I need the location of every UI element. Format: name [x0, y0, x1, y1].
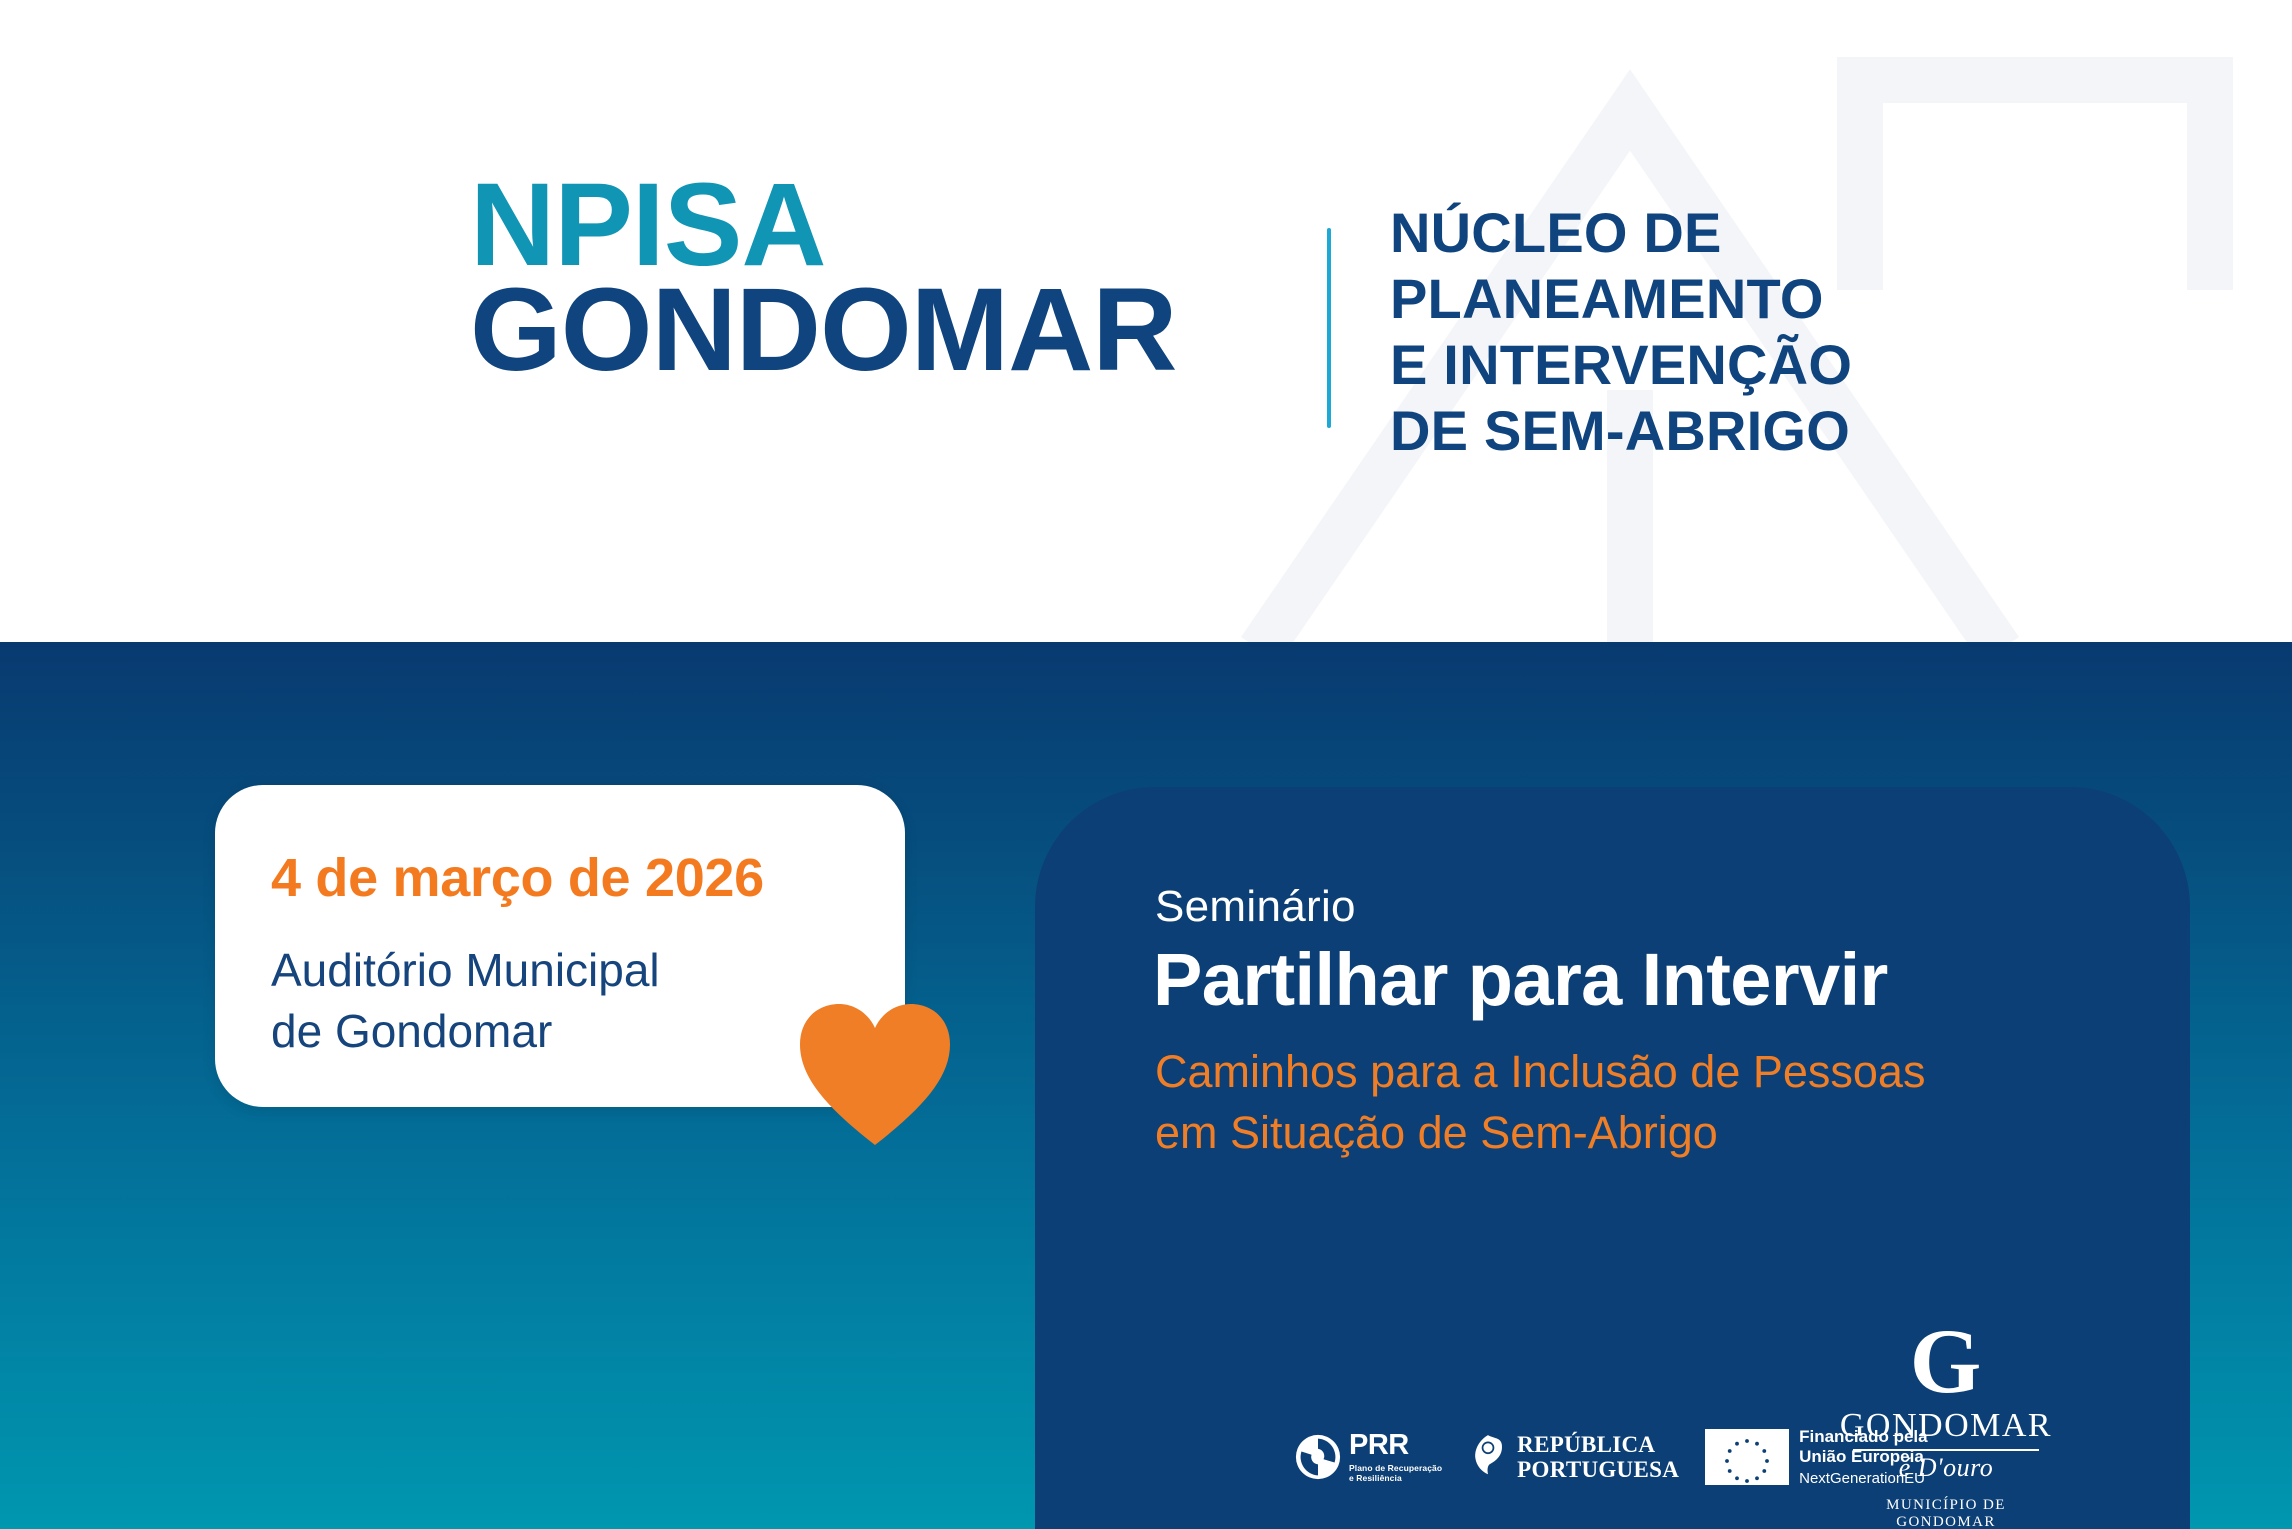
- gondomar-logo-tagline: é D'ouro: [1836, 1453, 2056, 1483]
- heart-icon: [800, 1002, 950, 1147]
- seminar-subtitle: Caminhos para a Inclusão de Pessoas em S…: [1155, 1042, 1925, 1164]
- prr-text-block: PRR Plano de Recuperação e Resiliência: [1349, 1431, 1442, 1484]
- gondomar-logo-rule: [1853, 1449, 2039, 1451]
- republica-portuguesa-shield-icon: [1468, 1434, 1508, 1480]
- gondomar-municipality-logo: G GONDOMAR é D'ouro MUNICÍPIO DE GONDOMA…: [1836, 1318, 2056, 1529]
- header-description-line-4: DE SEM-ABRIGO: [1390, 398, 1852, 464]
- prr-subtitle-line-1: Plano de Recuperação: [1349, 1463, 1442, 1473]
- prr-subtitle-line-2: e Resiliência: [1349, 1473, 1402, 1483]
- republica-portuguesa-line-2: PORTUGUESA: [1517, 1457, 1679, 1482]
- seminar-title: Partilhar para Intervir: [1153, 937, 1888, 1022]
- gondomar-logo-caption: MUNICÍPIO DE GONDOMAR: [1836, 1497, 2056, 1529]
- prr-subtitle: Plano de Recuperação e Resiliência: [1349, 1463, 1442, 1484]
- event-poster: NPISA GONDOMAR NÚCLEO DE PLANEAMENTO E I…: [0, 0, 2292, 1529]
- seminar-subtitle-line-2: em Situação de Sem-Abrigo: [1155, 1103, 1925, 1164]
- header-divider: [1327, 228, 1331, 428]
- event-venue-line-2: de Gondomar: [271, 1001, 660, 1062]
- gondomar-monogram: G: [1836, 1318, 2056, 1405]
- republica-portuguesa-line-1: REPÚBLICA: [1517, 1432, 1679, 1457]
- funding-logos-row: PRR Plano de Recuperação e Resiliência R…: [1295, 1427, 1928, 1488]
- event-venue: Auditório Municipal de Gondomar: [271, 940, 660, 1061]
- gondomar-logo-name: GONDOMAR: [1836, 1407, 2056, 1445]
- seminar-subtitle-line-1: Caminhos para a Inclusão de Pessoas: [1155, 1042, 1925, 1103]
- header-description: NÚCLEO DE PLANEAMENTO E INTERVENÇÃO DE S…: [1390, 200, 1852, 464]
- republica-portuguesa-text: REPÚBLICA PORTUGUESA: [1517, 1432, 1679, 1483]
- prr-logo: PRR Plano de Recuperação e Resiliência: [1295, 1431, 1442, 1484]
- header-description-line-1: NÚCLEO DE: [1390, 200, 1852, 266]
- wordmark-npisa: NPISA: [470, 175, 1177, 276]
- event-date: 4 de março de 2026: [271, 847, 764, 909]
- republica-portuguesa-logo: REPÚBLICA PORTUGUESA: [1468, 1432, 1679, 1483]
- eu-flag-icon: [1705, 1429, 1789, 1485]
- seminar-kicker: Seminário: [1155, 882, 1356, 932]
- npisa-wordmark: NPISA GONDOMAR: [470, 175, 1177, 382]
- prr-swirl-icon: [1295, 1434, 1341, 1480]
- header-description-line-3: E INTERVENÇÃO: [1390, 332, 1852, 398]
- wordmark-gondomar: GONDOMAR: [470, 280, 1177, 381]
- event-venue-line-1: Auditório Municipal: [271, 940, 660, 1001]
- header-description-line-2: PLANEAMENTO: [1390, 266, 1852, 332]
- prr-title: PRR: [1349, 1431, 1442, 1460]
- poster-header: NPISA GONDOMAR NÚCLEO DE PLANEAMENTO E I…: [0, 0, 2292, 642]
